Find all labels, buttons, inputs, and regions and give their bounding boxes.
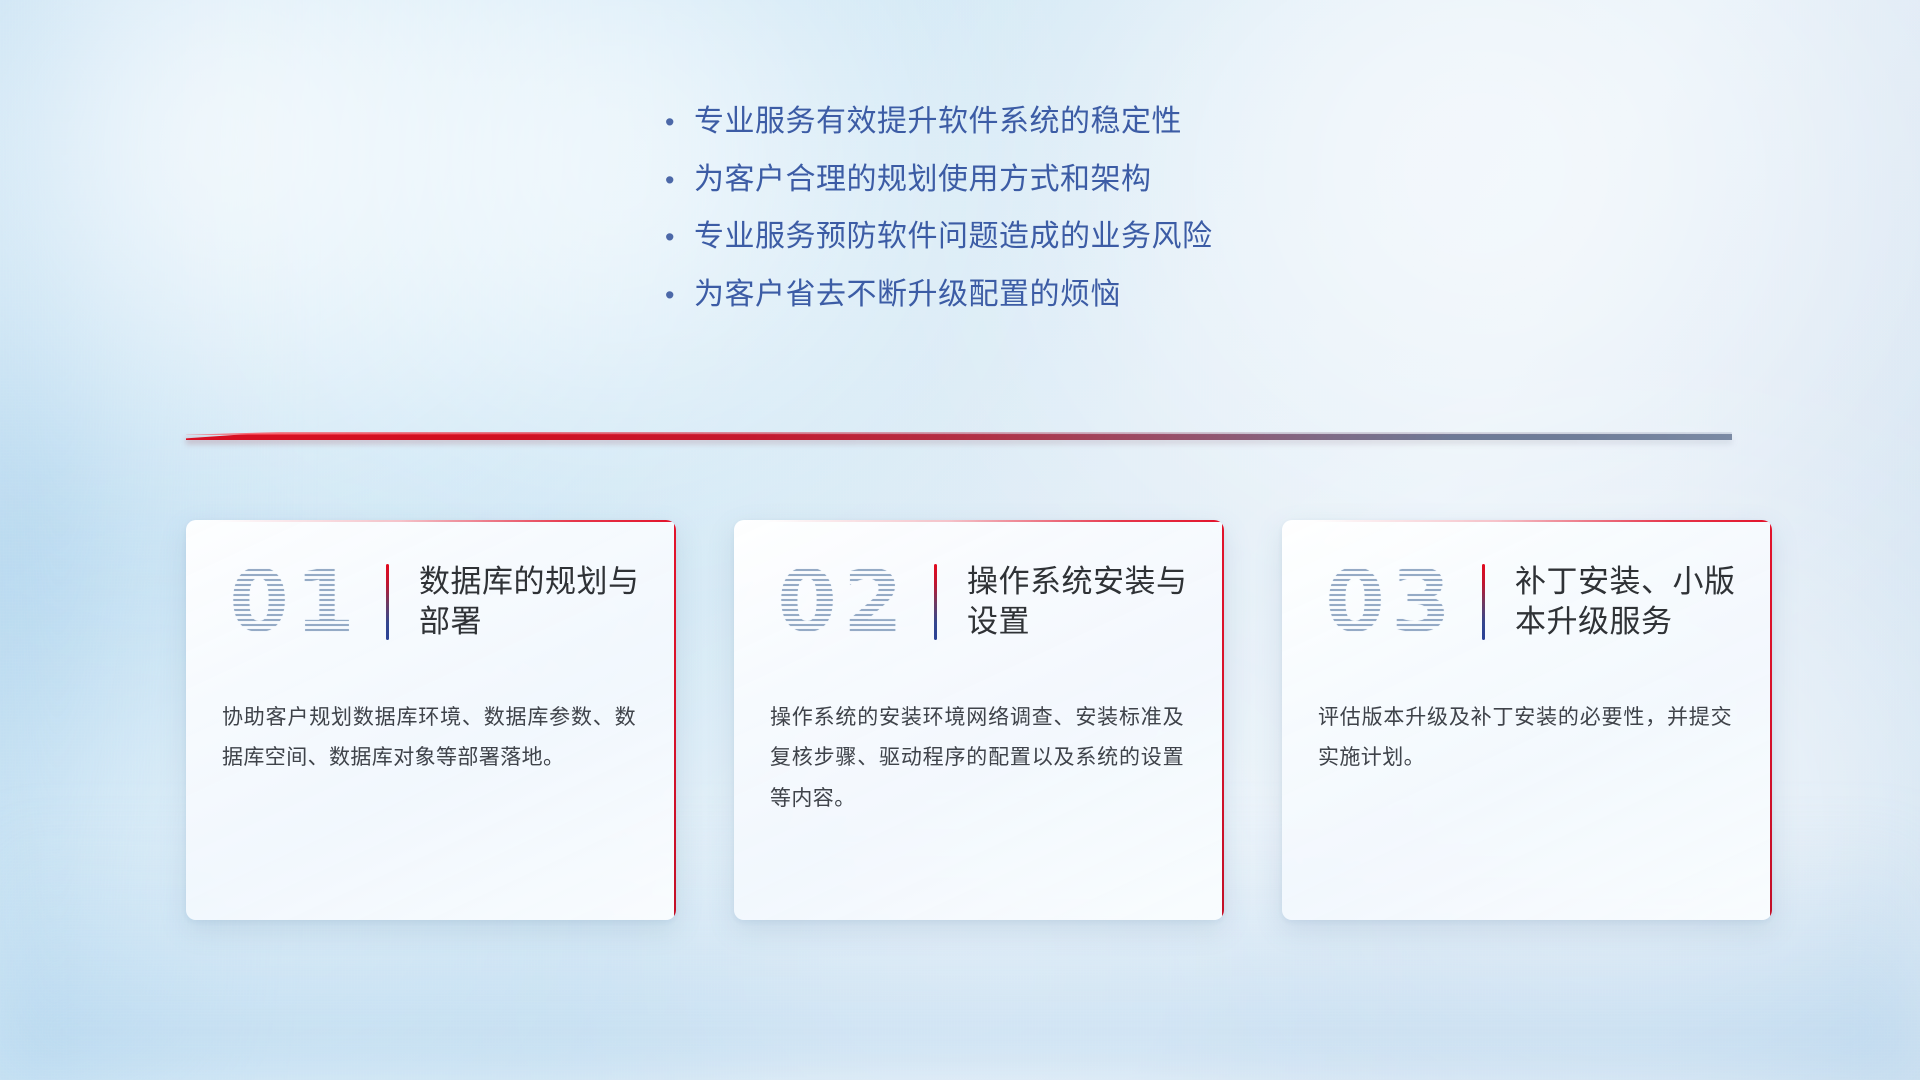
- service-card-list: 01 数据库的规划与部署 协助客户规划数据库环境、数据库参数、数据库空间、数据库…: [186, 520, 1772, 920]
- card-top-accent: [216, 520, 676, 522]
- bullet-text: 为客户合理的规划使用方式和架构: [694, 162, 1152, 199]
- bullet-text: 为客户省去不断升级配置的烦恼: [694, 277, 1121, 314]
- card-title: 操作系统安装与设置: [967, 562, 1199, 643]
- divider-highlight: [186, 432, 1732, 435]
- card-header: 03 补丁安装、小版本升级服务: [1282, 542, 1772, 662]
- card-body-text: 评估版本升级及补丁安装的必要性，并提交实施计划。: [1318, 698, 1732, 779]
- service-card-02[interactable]: 02 操作系统安装与设置 操作系统的安装环境网络调查、安装标准及复核步骤、驱动程…: [734, 520, 1224, 920]
- bullet-text: 专业服务预防软件问题造成的业务风险: [694, 219, 1213, 256]
- card-number: 03: [1282, 559, 1482, 645]
- card-title: 补丁安装、小版本升级服务: [1515, 562, 1747, 643]
- card-body-text: 协助客户规划数据库环境、数据库参数、数据库空间、数据库对象等部署落地。: [222, 698, 636, 779]
- card-body-text: 操作系统的安装环境网络调查、安装标准及复核步骤、驱动程序的配置以及系统的设置等内…: [770, 698, 1184, 819]
- list-item: • 为客户合理的规划使用方式和架构: [660, 162, 1213, 199]
- card-title: 数据库的规划与部署: [419, 562, 651, 643]
- benefits-bullet-list: • 专业服务有效提升软件系统的稳定性 • 为客户合理的规划使用方式和架构 • 专…: [660, 104, 1213, 313]
- card-divider-bar: [1482, 564, 1485, 640]
- card-divider-bar: [934, 564, 937, 640]
- list-item: • 专业服务有效提升软件系统的稳定性: [660, 104, 1213, 141]
- list-item: • 为客户省去不断升级配置的烦恼: [660, 277, 1213, 314]
- bullet-dot-icon: •: [660, 109, 694, 136]
- card-divider-bar: [386, 564, 389, 640]
- service-card-01[interactable]: 01 数据库的规划与部署 协助客户规划数据库环境、数据库参数、数据库空间、数据库…: [186, 520, 676, 920]
- bullet-dot-icon: •: [660, 167, 694, 194]
- card-top-accent: [764, 520, 1224, 522]
- list-item: • 专业服务预防软件问题造成的业务风险: [660, 219, 1213, 256]
- section-divider: [186, 424, 1732, 446]
- bullet-text: 专业服务有效提升软件系统的稳定性: [694, 104, 1182, 141]
- card-number: 02: [734, 559, 934, 645]
- card-top-accent: [1312, 520, 1772, 522]
- bullet-dot-icon: •: [660, 224, 694, 251]
- card-header: 01 数据库的规划与部署: [186, 542, 676, 662]
- service-card-03[interactable]: 03 补丁安装、小版本升级服务 评估版本升级及补丁安装的必要性，并提交实施计划。: [1282, 520, 1772, 920]
- card-header: 02 操作系统安装与设置: [734, 542, 1224, 662]
- bullet-dot-icon: •: [660, 282, 694, 309]
- card-number: 01: [186, 559, 386, 645]
